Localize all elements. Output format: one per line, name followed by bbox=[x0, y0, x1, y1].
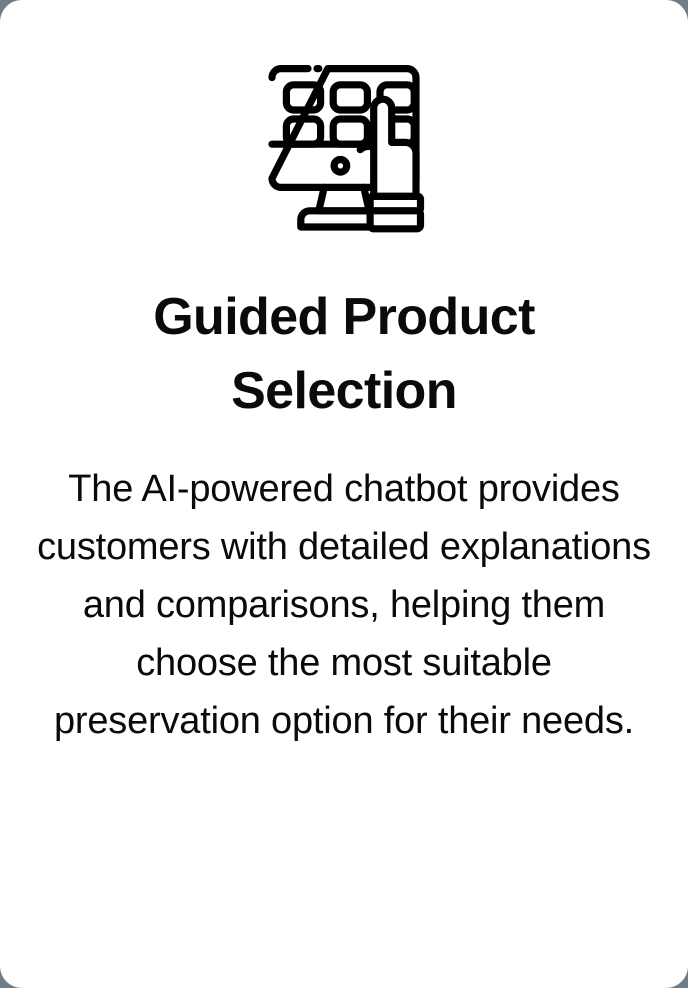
page-title: Guided Product Selection bbox=[68, 236, 620, 428]
feature-card: Guided Product Selection The AI-powered … bbox=[0, 0, 688, 988]
monitor-hand-select-icon bbox=[254, 56, 434, 236]
card-description: The AI-powered chatbot provides customer… bbox=[34, 428, 654, 750]
page-backdrop: Guided Product Selection The AI-powered … bbox=[0, 0, 688, 988]
